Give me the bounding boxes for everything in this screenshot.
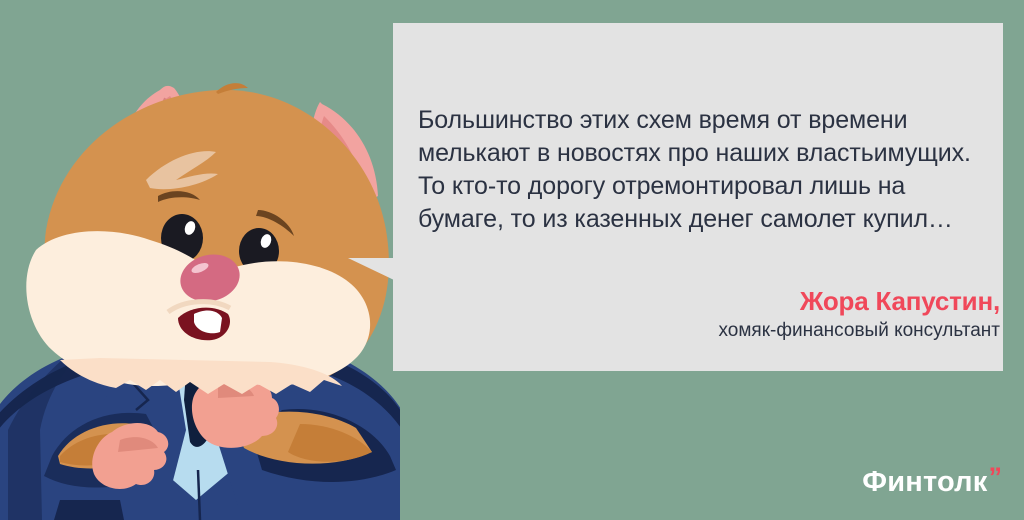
attribution-block: Жора Капустин, хомяк-финансовый консульт… (719, 286, 1000, 343)
fintolk-logo[interactable]: Финтолк ” (862, 466, 1002, 498)
logo-wordmark: Финтолк (862, 466, 987, 498)
author-name: Жора Капустин, (719, 286, 1000, 316)
quote-text: Большинство этих схем время от времени м… (418, 104, 993, 236)
hamster-character-illustration (0, 0, 400, 520)
author-role: хомяк-финансовый консультант (719, 318, 1000, 343)
quote-mark-icon: ” (989, 467, 1003, 487)
suit-pocket-left (54, 500, 124, 520)
promo-banner: Большинство этих схем время от времени м… (0, 0, 1024, 520)
hamster-svg (0, 0, 400, 520)
speech-bubble-tail (348, 258, 394, 280)
